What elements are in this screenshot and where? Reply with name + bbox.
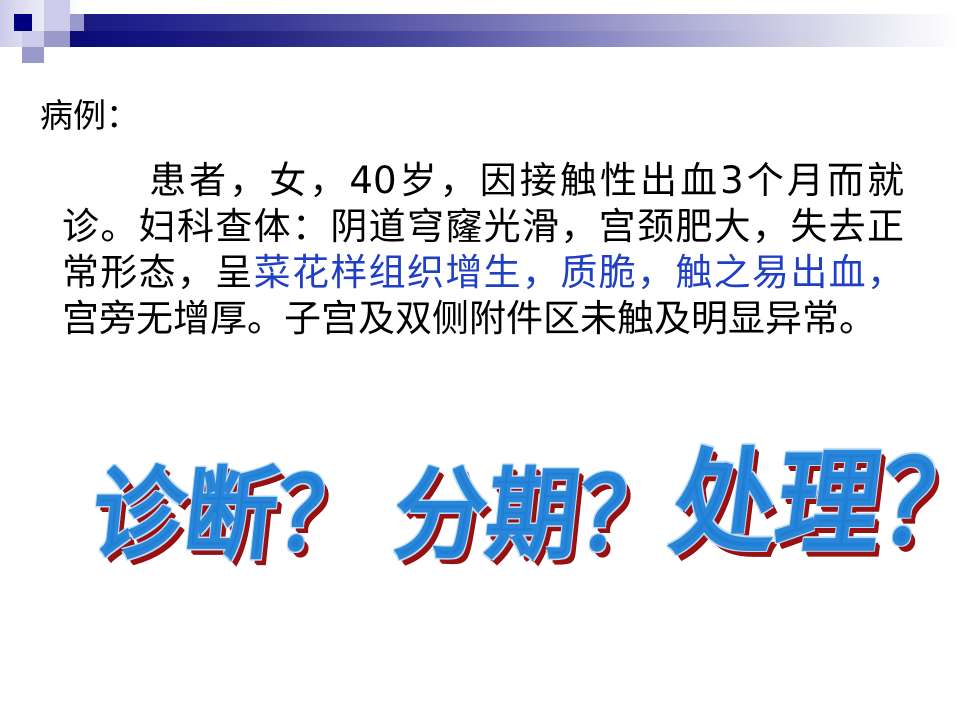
decoration-medium-square-lower	[22, 47, 44, 63]
wordart-staging-question: 分期？	[390, 466, 676, 565]
case-body-text: 患者，女，40岁，因接触性出血3个月而就诊。妇科查体：阴道穹窿光滑，宫颈肥大，失…	[62, 158, 904, 342]
decoration-medium-square-middle	[44, 31, 70, 47]
decoration-navy-square	[14, 14, 32, 31]
wordart-management-question: 处理？	[666, 446, 960, 560]
decoration-pale-square-top	[44, 0, 70, 14]
wordart-question-row: 诊断？ 分期？ 处理？	[0, 428, 960, 608]
slide-header-decoration	[0, 0, 960, 56]
wordart-diagnosis-question: 诊断？	[88, 466, 374, 565]
decoration-gradient-bar-top	[84, 14, 960, 31]
decoration-pale-square-middle	[44, 14, 70, 31]
case-body-segment-3: 宫旁无增厚。子宫及双侧附件区未触及明显异常。	[62, 297, 876, 340]
case-body-highlight: 菜花样组织增生，质脆，触之易出血，	[254, 251, 904, 294]
case-title: 病例：	[40, 96, 139, 136]
decoration-pale-square-lower	[22, 31, 44, 47]
decoration-gradient-bar-bottom	[70, 31, 960, 47]
decoration-medium-square-upper	[70, 14, 84, 31]
presentation-slide: 病例： 患者，女，40岁，因接触性出血3个月而就诊。妇科查体：阴道穹窿光滑，宫颈…	[0, 0, 960, 720]
